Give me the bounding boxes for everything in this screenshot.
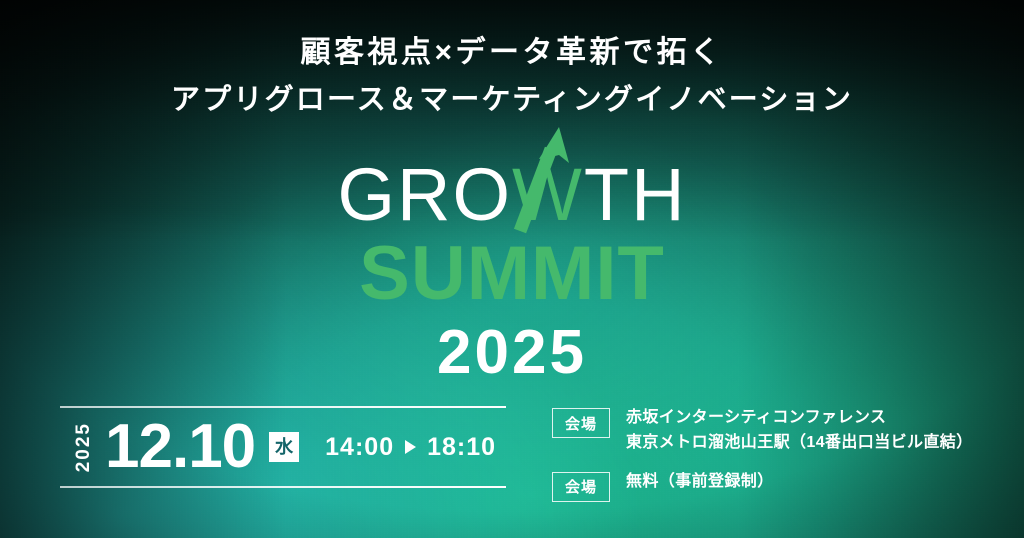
- info-venue-line-1: 赤坂インターシティコンファレンス: [626, 406, 973, 431]
- logo-growth-w-glyph: W: [512, 153, 584, 236]
- logo-growth-part-1: GRO: [337, 153, 512, 236]
- date-year-vertical: 2025: [74, 422, 93, 472]
- info-fee-line-1: 無料（事前登録制）: [626, 470, 774, 495]
- triangle-right-icon: [405, 440, 416, 454]
- date-day: 12.10: [105, 416, 255, 478]
- event-logo: GROW TH SUMMIT 2025: [0, 158, 1024, 384]
- banner-content: 顧客視点×データ革新で拓く アプリグロース＆マーケティングイノベーション GRO…: [0, 0, 1024, 538]
- info-text-venue: 赤坂インターシティコンファレンス 東京メトロ溜池山王駅（14番出口当ビル直結）: [626, 406, 973, 456]
- info-badge-venue: 会場: [552, 408, 610, 438]
- event-banner: 顧客視点×データ革新で拓く アプリグロース＆マーケティングイノベーション GRO…: [0, 0, 1024, 538]
- event-time-end: 18:10: [427, 433, 496, 462]
- event-info-block: 会場 赤坂インターシティコンファレンス 東京メトロ溜池山王駅（14番出口当ビル直…: [552, 406, 1012, 516]
- info-text-fee: 無料（事前登録制）: [626, 470, 774, 495]
- date-rule-bottom: [60, 486, 506, 488]
- date-day-of-week-badge: 水: [269, 432, 299, 462]
- event-time-start: 14:00: [325, 433, 394, 462]
- logo-growth-w-letter: W: [512, 153, 584, 236]
- date-row: 2025 12.10 水 14:00 18:10: [60, 408, 506, 486]
- logo-growth-part-2: TH: [584, 153, 687, 236]
- info-row-fee: 会場 無料（事前登録制）: [552, 470, 1012, 502]
- logo-year: 2025: [0, 322, 1024, 384]
- event-time-range: 14:00 18:10: [325, 433, 496, 462]
- logo-growth-wordmark: GROW TH: [337, 158, 686, 232]
- event-date-block: 2025 12.10 水 14:00 18:10: [60, 406, 506, 488]
- info-venue-line-2: 東京メトロ溜池山王駅（14番出口当ビル直結）: [626, 431, 973, 456]
- info-badge-fee: 会場: [552, 472, 610, 502]
- headline-line-2: アプリグロース＆マーケティングイノベーション: [0, 82, 1024, 119]
- info-row-venue: 会場 赤坂インターシティコンファレンス 東京メトロ溜池山王駅（14番出口当ビル直…: [552, 406, 1012, 456]
- headline: 顧客視点×データ革新で拓く アプリグロース＆マーケティングイノベーション: [0, 34, 1024, 120]
- headline-line-1: 顧客視点×データ革新で拓く: [0, 34, 1024, 72]
- logo-summit-wordmark: SUMMIT: [0, 236, 1024, 312]
